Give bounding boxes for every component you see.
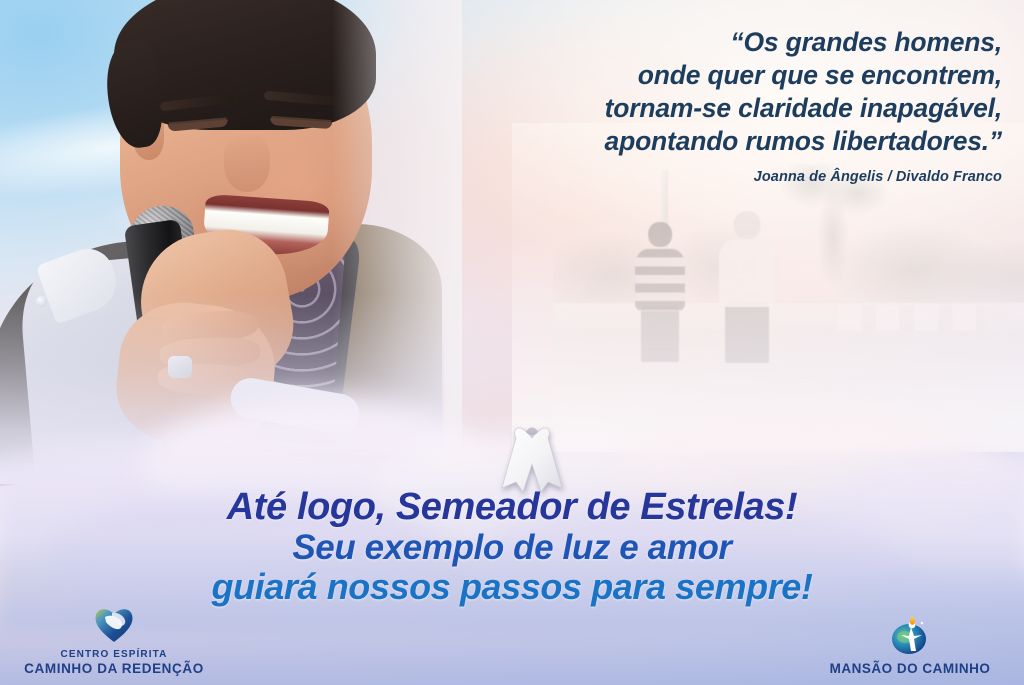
globe-figure-icon [889, 615, 931, 657]
quote-line-3: tornam-se claridade inapagável, [382, 92, 1002, 125]
quote-line-4: apontando rumos libertadores.” [382, 125, 1002, 158]
tribute-line-2: Seu exemplo de luz e amor [0, 528, 1024, 567]
heart-hands-icon [92, 604, 136, 644]
logo-mansao-do-caminho: MANSÃO DO CAMINHO [810, 615, 1010, 677]
tribute-message: Até logo, Semeador de Estrelas! Seu exem… [0, 486, 1024, 607]
logo-left-line-2: CAMINHO DA REDENÇÃO [24, 661, 204, 677]
banner-canvas: “Os grandes homens, onde quer que se enc… [0, 0, 1024, 685]
logo-right-line-2: MANSÃO DO CAMINHO [830, 661, 991, 677]
logo-centro-espirita: CENTRO ESPÍRITA CAMINHO DA REDENÇÃO [14, 604, 214, 677]
white-mourning-ribbon-icon [496, 410, 568, 494]
quote-line-2: onde quer que se encontrem, [382, 59, 1002, 92]
quote-line-1: “Os grandes homens, [382, 26, 1002, 59]
tribute-line-1: Até logo, Semeador de Estrelas! [0, 486, 1024, 528]
quote-attribution: Joanna de Ângelis / Divaldo Franco [382, 169, 1002, 185]
quote-block: “Os grandes homens, onde quer que se enc… [382, 26, 1002, 185]
tribute-line-3: guiará nossos passos para sempre! [0, 567, 1024, 607]
logo-left-line-1: CENTRO ESPÍRITA [24, 648, 204, 661]
